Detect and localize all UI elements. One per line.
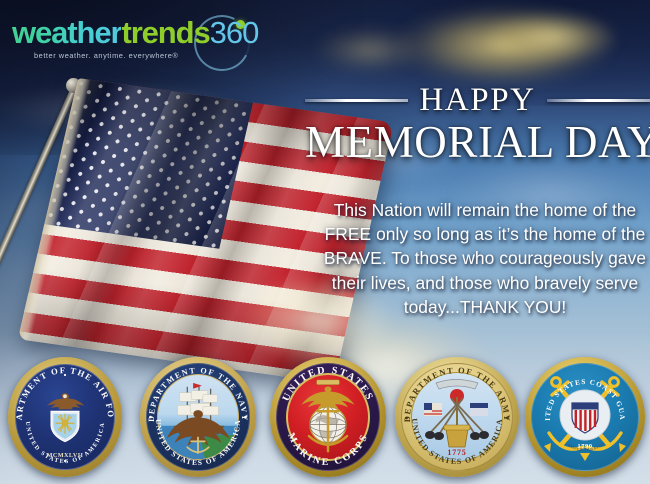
seal-marine-corps-rope (272, 359, 384, 475)
logo-word-trends: trends (121, 15, 209, 50)
logo-wordmark: weathertrends360 (12, 16, 258, 50)
golden-cloud (470, 6, 640, 68)
seal-army-rope (397, 359, 517, 475)
headline-rule-left (305, 99, 408, 102)
headline-top-row: HAPPY (305, 82, 650, 118)
logo-tagline: better weather. anytime. everywhere® (34, 51, 178, 60)
logo-word-weather: weather (12, 15, 121, 50)
headline-block: HAPPY MEMORIAL DAY (305, 82, 650, 167)
seal-marine-corps: UNITED STATES MARINE CORPS (270, 357, 386, 477)
logo-word-360: 360 (210, 15, 259, 50)
headline-rule-right (547, 99, 650, 102)
seal-air-force: DEPARTMENT OF THE AIR FORCE UNITED STATE… (8, 357, 122, 477)
seal-coast-guard-rope (527, 359, 643, 475)
memorial-day-poster: weathertrends360 better weather. anytime… (0, 0, 650, 484)
memorial-quote: This Nation will remain the home of the … (320, 198, 650, 319)
seal-navy: DEPARTMENT OF THE NAVY UNITED STATES OF … (140, 357, 256, 477)
seal-navy-rope (142, 359, 254, 475)
seal-coast-guard: UNITED STATES COAST GUARD SEMPER PARATUS… (525, 357, 645, 477)
headline-memorial-day: MEMORIAL DAY (305, 117, 650, 167)
seal-air-force-rope (10, 359, 120, 475)
weathertrends360-logo[interactable]: weathertrends360 better weather. anytime… (8, 16, 258, 66)
seal-army: DEPARTMENT OF THE ARMY UNITED STATES OF … (395, 357, 519, 477)
headline-happy: HAPPY (419, 82, 535, 118)
